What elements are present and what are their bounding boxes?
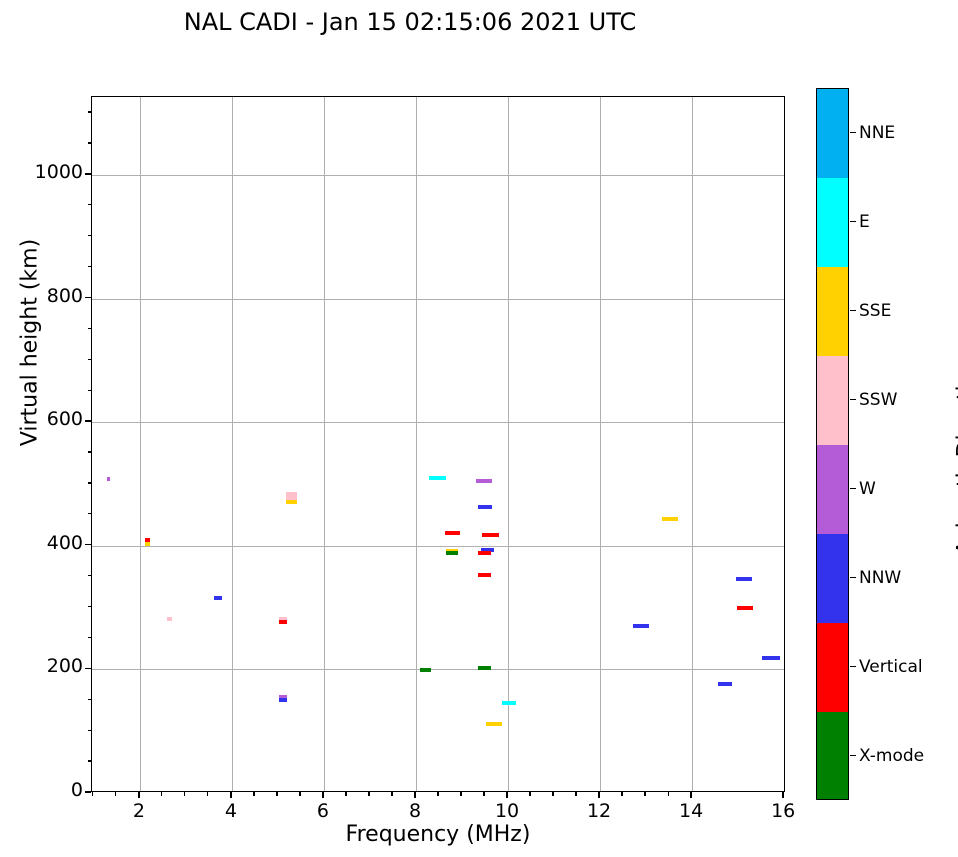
x-tick-minor: [391, 792, 392, 796]
colorbar-label-x-mode: X-mode: [859, 746, 924, 766]
x-tick-minor: [115, 792, 116, 796]
colorbar-segment-vertical: [817, 623, 848, 713]
colorbar-title: Azimuth Direction: [954, 297, 958, 617]
y-tick-minor: [88, 575, 92, 576]
x-tick: [598, 792, 599, 798]
y-tick-minor: [88, 328, 92, 329]
x-axis-label: Frequency (MHz): [91, 822, 785, 847]
x-tick-minor: [529, 792, 530, 796]
echo-trace: [429, 476, 447, 480]
colorbar-label-sse: SSE: [859, 301, 891, 321]
x-tick-minor: [552, 792, 553, 796]
y-tick-label: 200: [0, 655, 83, 677]
colorbar-label-nne: NNE: [859, 123, 895, 143]
y-tick: [85, 544, 91, 545]
y-tick-minor: [88, 390, 92, 391]
gridline-horizontal: [92, 299, 784, 300]
colorbar-segment-ssw: [817, 356, 848, 446]
echo-trace: [662, 517, 679, 521]
y-tick-label: 0: [0, 779, 83, 801]
x-tick-minor: [460, 792, 461, 796]
x-tick-minor: [184, 792, 185, 796]
x-tick-label: 8: [385, 800, 445, 822]
echo-trace: [482, 533, 499, 537]
x-tick-minor: [621, 792, 622, 796]
echo-trace: [478, 666, 491, 670]
echo-trace: [502, 701, 517, 705]
y-tick-minor: [88, 266, 92, 267]
y-axis-label: Virtual height (km): [18, 183, 43, 503]
echo-trace: [718, 682, 732, 686]
colorbar-tick: [850, 755, 856, 756]
colorbar-label-ssw: SSW: [859, 390, 897, 410]
colorbar-tick: [850, 399, 856, 400]
x-tick-minor: [92, 792, 93, 796]
echo-trace: [286, 500, 297, 504]
x-tick-minor: [668, 792, 669, 796]
y-tick: [85, 173, 91, 174]
x-tick-label: 10: [477, 800, 537, 822]
gridline-vertical: [324, 97, 325, 791]
y-tick: [85, 791, 91, 792]
x-tick: [414, 792, 415, 798]
x-tick-minor: [575, 792, 576, 796]
echo-trace: [107, 477, 111, 481]
echo-trace: [478, 573, 491, 577]
y-tick-minor: [88, 359, 92, 360]
gridline-horizontal: [92, 546, 784, 547]
y-tick-label: 1000: [0, 161, 83, 183]
gridline-vertical: [232, 97, 233, 791]
x-tick-minor: [253, 792, 254, 796]
y-tick: [85, 420, 91, 421]
colorbar-label-vertical: Vertical: [859, 657, 923, 677]
echo-trace: [279, 620, 287, 624]
y-tick-minor: [88, 730, 92, 731]
y-tick-label: 400: [0, 532, 83, 554]
x-tick-label: 6: [293, 800, 353, 822]
gridline-vertical: [140, 97, 141, 791]
x-tick-minor: [276, 792, 277, 796]
page-title: NAL CADI - Jan 15 02:15:06 2021 UTC: [0, 8, 820, 36]
echo-trace: [445, 531, 461, 535]
x-tick: [506, 792, 507, 798]
colorbar-tick: [850, 577, 856, 578]
x-tick-minor: [207, 792, 208, 796]
x-tick-minor: [368, 792, 369, 796]
y-tick-minor: [88, 235, 92, 236]
echo-trace: [145, 542, 151, 546]
colorbar-segment-w: [817, 445, 848, 535]
x-tick-label: 2: [109, 800, 169, 822]
echo-trace: [420, 668, 431, 672]
x-tick: [322, 792, 323, 798]
echo-trace: [736, 577, 752, 581]
echo-trace: [167, 617, 173, 621]
x-tick-minor: [299, 792, 300, 796]
x-tick-minor: [644, 792, 645, 796]
echo-trace: [762, 656, 780, 660]
ionogram-figure: NAL CADI - Jan 15 02:15:06 2021 UTC 2468…: [0, 0, 958, 857]
x-tick-label: 4: [201, 800, 261, 822]
colorbar-segment-x-mode: [817, 712, 848, 800]
x-tick-label: 14: [661, 800, 721, 822]
x-tick-label: 12: [569, 800, 629, 822]
colorbar: [816, 88, 849, 800]
gridline-horizontal: [92, 175, 784, 176]
colorbar-segment-sse: [817, 267, 848, 357]
colorbar-label-w: W: [859, 479, 876, 499]
colorbar-label-nnw: NNW: [859, 568, 901, 588]
y-tick-minor: [88, 482, 92, 483]
y-tick-minor: [88, 606, 92, 607]
y-tick-minor: [88, 142, 92, 143]
x-tick-minor: [345, 792, 346, 796]
y-tick-minor: [88, 637, 92, 638]
echo-trace: [286, 492, 297, 496]
y-tick-minor: [88, 111, 92, 112]
x-tick: [782, 792, 783, 798]
echo-trace: [476, 479, 493, 483]
echo-trace: [486, 722, 503, 726]
colorbar-segment-nne: [817, 89, 848, 179]
gridline-vertical: [784, 97, 785, 791]
y-tick: [85, 668, 91, 669]
y-tick-minor: [88, 699, 92, 700]
x-tick-label: 16: [753, 800, 813, 822]
echo-trace: [478, 505, 493, 509]
y-tick-minor: [88, 204, 92, 205]
gridline-vertical: [692, 97, 693, 791]
echo-trace: [446, 551, 458, 555]
colorbar-tick: [850, 666, 856, 667]
echo-trace: [737, 606, 753, 610]
y-tick: [85, 297, 91, 298]
x-tick: [138, 792, 139, 798]
gridline-horizontal: [92, 669, 784, 670]
colorbar-segment-nnw: [817, 534, 848, 624]
gridline-horizontal: [92, 422, 784, 423]
gridline-vertical: [600, 97, 601, 791]
echo-trace: [478, 551, 491, 555]
colorbar-tick: [850, 132, 856, 133]
echo-trace: [279, 698, 287, 702]
colorbar-tick: [850, 310, 856, 311]
gridline-vertical: [508, 97, 509, 791]
colorbar-tick: [850, 221, 856, 222]
y-tick-minor: [88, 451, 92, 452]
echo-trace: [214, 596, 222, 600]
y-tick-minor: [88, 513, 92, 514]
colorbar-tick: [850, 488, 856, 489]
x-tick-minor: [161, 792, 162, 796]
x-tick-minor: [483, 792, 484, 796]
x-tick: [230, 792, 231, 798]
gridline-vertical: [416, 97, 417, 791]
colorbar-label-e: E: [859, 212, 870, 232]
colorbar-segment-e: [817, 178, 848, 268]
plot-area: [91, 96, 785, 792]
x-tick: [690, 792, 691, 798]
echo-trace: [633, 624, 649, 628]
x-tick-minor: [437, 792, 438, 796]
y-tick-minor: [88, 760, 92, 761]
